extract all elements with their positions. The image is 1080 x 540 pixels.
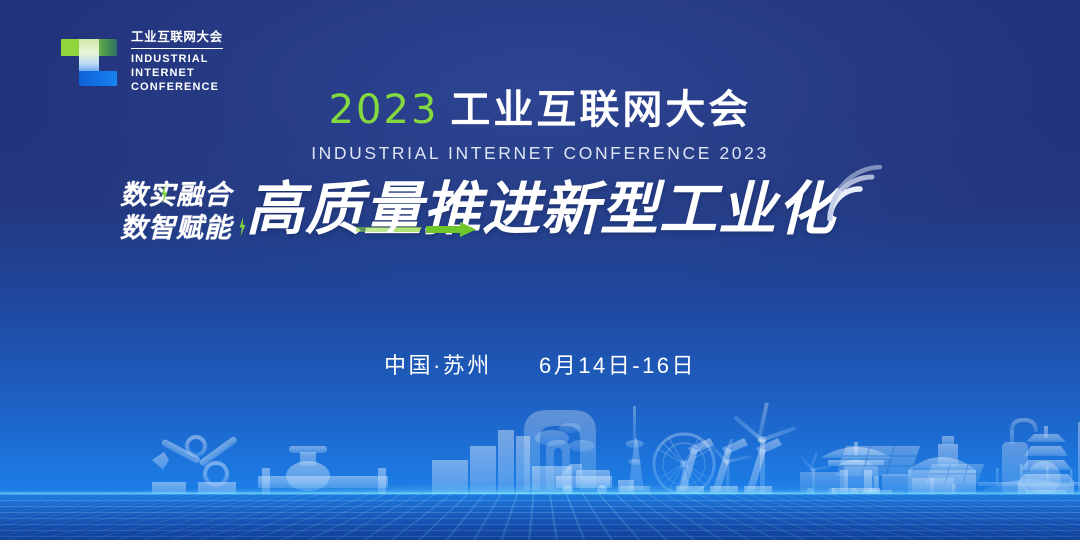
logo-mark-icon [58, 31, 120, 93]
slogan-secondary-line-2: 数智赋能 [120, 215, 232, 243]
logo-en-line-1: INDUSTRIAL [131, 53, 209, 65]
city-skyline-right [0, 386, 1080, 496]
event-location: 中国·苏州 [384, 353, 492, 378]
logo-text: 工业互联网大会 INDUSTRIAL INTERNET CONFERENCE [131, 30, 223, 95]
logo-english-name: INDUSTRIAL INTERNET CONFERENCE [131, 52, 223, 95]
title-english: INDUSTRIAL INTERNET CONFERENCE 2023 [0, 143, 1080, 164]
title-year: 2023 [329, 87, 439, 133]
wifi-signal-icon [824, 165, 882, 221]
slogan-secondary-text-1: 数实融合 [120, 180, 232, 210]
slogan-primary-text: 高质量推进新型工业化 [246, 177, 836, 242]
title-chinese: 工业互联网大会 [450, 88, 751, 132]
event-details: 中国·苏州 6月14日-16日 [0, 348, 1080, 380]
slogan-secondary-line-1: 数实融合 [120, 182, 232, 210]
logo-en-line-2: INTERNET [131, 67, 195, 79]
title-block: 2023工业互联网大会 INDUSTRIAL INTERNET CONFEREN… [0, 90, 1080, 164]
slogan-secondary: 数实融合 数智赋能 [120, 182, 232, 242]
conference-logo[interactable]: 工业互联网大会 INDUSTRIAL INTERNET CONFERENCE [58, 30, 223, 95]
event-dates: 6月14日-16日 [539, 353, 696, 378]
perspective-grid-plane [0, 494, 1080, 540]
slogan-primary: 高质量推进新型工业化 [246, 181, 836, 239]
slogan-block: 数实融合 数智赋能 高质量推进新型工业化 [120, 178, 836, 242]
grid-fade-overlay [0, 494, 1080, 540]
logo-bar-bottom [79, 71, 117, 86]
conference-poster: 工业互联网大会 INDUSTRIAL INTERNET CONFERENCE 2… [0, 0, 1080, 540]
page-title: 2023工业互联网大会 [0, 90, 1080, 130]
logo-chinese-name: 工业互联网大会 [131, 30, 223, 49]
slogan-secondary-text-2: 数智赋能 [120, 213, 232, 243]
